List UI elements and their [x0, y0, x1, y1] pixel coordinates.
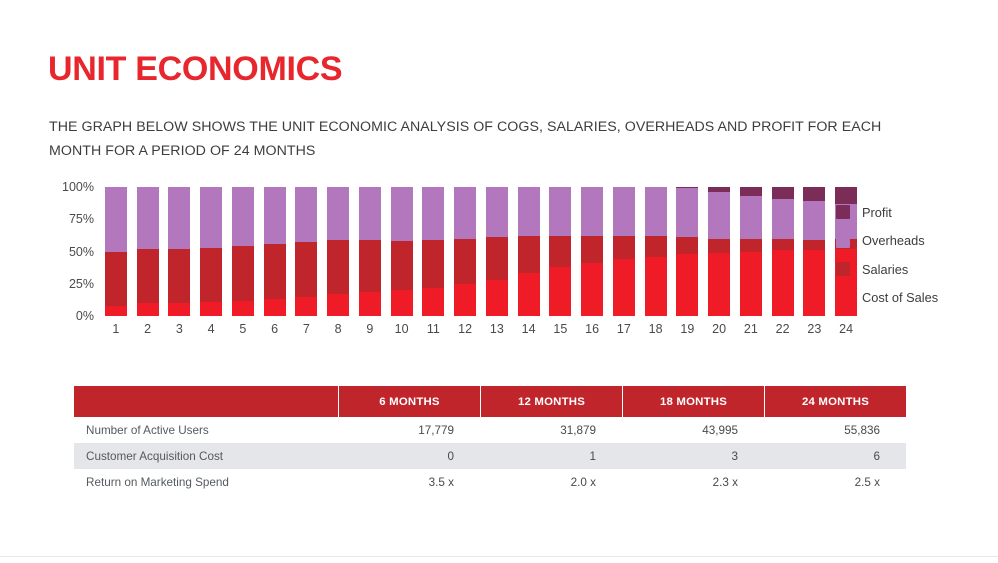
chart-bar-segment [422, 288, 444, 316]
chart-bar-segment [803, 187, 825, 201]
chart-bar-segment [676, 188, 698, 237]
table-header-cell: 6 MONTHS [338, 386, 480, 417]
chart-bar[interactable] [740, 187, 762, 316]
chart-bar-segment [708, 253, 730, 316]
table-header-row: 6 MONTHS12 MONTHS18 MONTHS24 MONTHS [74, 386, 906, 417]
legend-label: Overheads [862, 233, 925, 248]
x-axis-tick: 17 [613, 322, 635, 336]
x-axis-tick: 4 [200, 322, 222, 336]
chart-bar-segment [327, 240, 349, 294]
chart-bar-segment [168, 303, 190, 316]
chart-bar-segment [200, 187, 222, 248]
chart-bar-segment [137, 249, 159, 303]
chart-bar[interactable] [518, 187, 540, 316]
chart-bar-segment [613, 236, 635, 259]
chart-bar-segment [105, 306, 127, 316]
chart-bar-segment [454, 239, 476, 284]
chart-bar-segment [359, 187, 381, 240]
table-cell-value: 2.3 x [622, 469, 764, 495]
chart-bar-segment [613, 259, 635, 316]
chart-bar-segment [264, 187, 286, 244]
chart-bar-segment [676, 254, 698, 316]
chart-bar-segment [391, 290, 413, 316]
chart-bar-segment [645, 236, 667, 257]
chart-bar-segment [645, 257, 667, 316]
chart-bar[interactable] [168, 187, 190, 316]
chart-bar-segment [581, 236, 603, 263]
legend-item[interactable]: Salaries [836, 255, 986, 284]
legend-swatch-icon [836, 205, 850, 219]
table-row-label: Number of Active Users [74, 417, 338, 443]
y-axis-tick: 75% [69, 212, 94, 226]
chart-bar-segment [359, 240, 381, 292]
chart-bar-segment [772, 187, 794, 199]
chart-bar[interactable] [803, 187, 825, 316]
chart-y-axis: 100%75%50%25%0% [48, 182, 94, 316]
chart-bar[interactable] [295, 187, 317, 316]
y-axis-tick: 25% [69, 277, 94, 291]
chart-bar[interactable] [200, 187, 222, 316]
x-axis-tick: 22 [772, 322, 794, 336]
chart-bar-segment [518, 187, 540, 236]
chart-bar-segment [803, 240, 825, 250]
table-cell-value: 1 [480, 443, 622, 469]
chart-bar-segment [137, 303, 159, 316]
x-axis-tick: 13 [486, 322, 508, 336]
chart-bar-segment [295, 242, 317, 296]
chart-bar[interactable] [581, 187, 603, 316]
chart-bar-segment [454, 187, 476, 239]
x-axis-tick: 7 [295, 322, 317, 336]
table-header-blank [74, 386, 338, 417]
legend-label: Profit [862, 205, 892, 220]
table-cell-value: 2.0 x [480, 469, 622, 495]
x-axis-tick: 3 [168, 322, 190, 336]
chart-bar[interactable] [105, 187, 127, 316]
chart-bar[interactable] [676, 187, 698, 316]
chart-bar-segment [168, 249, 190, 303]
chart-bar-segment [422, 187, 444, 240]
chart-bar-segment [391, 187, 413, 241]
chart-bar[interactable] [772, 187, 794, 316]
y-axis-tick: 50% [69, 245, 94, 259]
table-header-cell: 18 MONTHS [622, 386, 764, 417]
chart-bar-segment [613, 187, 635, 236]
chart-bar-segment [168, 187, 190, 249]
metrics-table: 6 MONTHS12 MONTHS18 MONTHS24 MONTHS Numb… [74, 386, 906, 495]
page-title: UNIT ECONOMICS [48, 50, 342, 89]
chart-bar-segment [549, 267, 571, 316]
chart-bar-segment [327, 294, 349, 316]
chart-bar-segment [232, 246, 254, 300]
chart-bar-segment [486, 237, 508, 280]
table-cell-value: 31,879 [480, 417, 622, 443]
chart-bar-segment [772, 199, 794, 239]
chart-bar[interactable] [645, 187, 667, 316]
chart-bar[interactable] [549, 187, 571, 316]
chart-bar-segment [359, 292, 381, 317]
x-axis-tick: 14 [518, 322, 540, 336]
legend-item[interactable]: Cost of Sales [836, 284, 986, 313]
x-axis-tick: 24 [835, 322, 857, 336]
chart-bar-segment [740, 196, 762, 239]
x-axis-tick: 23 [803, 322, 825, 336]
chart-bar-segment [772, 250, 794, 316]
chart-bar-segment [740, 187, 762, 196]
legend-item[interactable]: Overheads [836, 227, 986, 256]
x-axis-tick: 18 [645, 322, 667, 336]
chart-bar-segment [740, 239, 762, 252]
chart-bar-segment [232, 301, 254, 316]
chart-bar-segment [295, 187, 317, 242]
unit-economics-chart: 100%75%50%25%0% 123456789101112131415161… [48, 182, 948, 347]
chart-bar[interactable] [613, 187, 635, 316]
chart-bar[interactable] [454, 187, 476, 316]
table-row-label: Customer Acquisition Cost [74, 443, 338, 469]
table-row-label: Return on Marketing Spend [74, 469, 338, 495]
y-axis-tick: 0% [76, 309, 94, 323]
subtitle-text: THE GRAPH BELOW SHOWS THE UNIT ECONOMIC … [49, 115, 919, 163]
chart-bar-segment [549, 236, 571, 267]
chart-bar[interactable] [327, 187, 349, 316]
chart-bar[interactable] [232, 187, 254, 316]
table-cell-value: 17,779 [338, 417, 480, 443]
chart-bar-segment [803, 250, 825, 316]
x-axis-tick: 5 [232, 322, 254, 336]
chart-bar-segment [200, 302, 222, 316]
table-cell-value: 6 [764, 443, 906, 469]
table-cell-value: 43,995 [622, 417, 764, 443]
chart-bar-segment [327, 187, 349, 240]
legend-label: Salaries [862, 262, 908, 277]
chart-legend: ProfitOverheadsSalariesCost of Sales [836, 198, 986, 312]
chart-bar-segment [391, 241, 413, 290]
legend-swatch-icon [836, 291, 850, 305]
chart-bar[interactable] [137, 187, 159, 316]
x-axis-tick: 9 [359, 322, 381, 336]
chart-bar-segment [581, 187, 603, 236]
x-axis-tick: 8 [327, 322, 349, 336]
chart-bar-segment [264, 244, 286, 299]
chart-bar-segment [772, 239, 794, 251]
table-cell-value: 0 [338, 443, 480, 469]
legend-swatch-icon [836, 234, 850, 248]
chart-bar-segment [105, 252, 127, 306]
legend-item[interactable]: Profit [836, 198, 986, 227]
chart-bar[interactable] [486, 187, 508, 316]
chart-bar-segment [581, 263, 603, 316]
chart-bar-segment [232, 187, 254, 246]
x-axis-tick: 15 [549, 322, 571, 336]
table-row: Customer Acquisition Cost0136 [74, 443, 906, 469]
chart-bar-segment [137, 187, 159, 249]
table-header-cell: 12 MONTHS [480, 386, 622, 417]
legend-label: Cost of Sales [862, 290, 938, 305]
table-body: Number of Active Users17,77931,87943,995… [74, 417, 906, 495]
chart-bar[interactable] [422, 187, 444, 316]
x-axis-tick: 11 [422, 322, 444, 336]
x-axis-tick: 6 [264, 322, 286, 336]
x-axis-tick: 16 [581, 322, 603, 336]
chart-bar-segment [105, 187, 127, 252]
chart-bar-segment [708, 239, 730, 253]
chart-bar[interactable] [264, 187, 286, 316]
chart-bar-segment [454, 284, 476, 316]
chart-bar-segment [518, 236, 540, 273]
table-cell-value: 3 [622, 443, 764, 469]
x-axis-tick: 10 [391, 322, 413, 336]
chart-bar-segment [486, 280, 508, 316]
slide-root: UNIT ECONOMICS THE GRAPH BELOW SHOWS THE… [0, 0, 998, 563]
chart-plot-area [100, 187, 862, 316]
table-row: Number of Active Users17,77931,87943,995… [74, 417, 906, 443]
chart-bar-segment [422, 240, 444, 288]
chart-bar-segment [518, 273, 540, 316]
table-cell-value: 2.5 x [764, 469, 906, 495]
chart-bar[interactable] [391, 187, 413, 316]
chart-bar-segment [264, 299, 286, 316]
chart-bar-segment [486, 187, 508, 237]
chart-bar-segment [295, 297, 317, 316]
x-axis-tick: 1 [105, 322, 127, 336]
chart-bar-segment [200, 248, 222, 302]
x-axis-tick: 21 [740, 322, 762, 336]
x-axis-tick: 19 [676, 322, 698, 336]
table-cell-value: 3.5 x [338, 469, 480, 495]
x-axis-tick: 2 [137, 322, 159, 336]
chart-bar[interactable] [708, 187, 730, 316]
table-cell-value: 55,836 [764, 417, 906, 443]
legend-swatch-icon [836, 262, 850, 276]
table-row: Return on Marketing Spend3.5 x2.0 x2.3 x… [74, 469, 906, 495]
chart-bar-segment [676, 237, 698, 254]
x-axis-tick: 12 [454, 322, 476, 336]
bottom-divider [0, 556, 998, 557]
chart-bar-segment [708, 192, 730, 238]
chart-bar[interactable] [359, 187, 381, 316]
chart-bar-segment [645, 187, 667, 236]
table-header-cell: 24 MONTHS [764, 386, 906, 417]
chart-x-axis: 123456789101112131415161718192021222324 [100, 322, 862, 342]
y-axis-tick: 100% [62, 180, 94, 194]
chart-bar-segment [803, 201, 825, 240]
x-axis-tick: 20 [708, 322, 730, 336]
chart-bar-segment [740, 252, 762, 317]
chart-bar-segment [549, 187, 571, 236]
